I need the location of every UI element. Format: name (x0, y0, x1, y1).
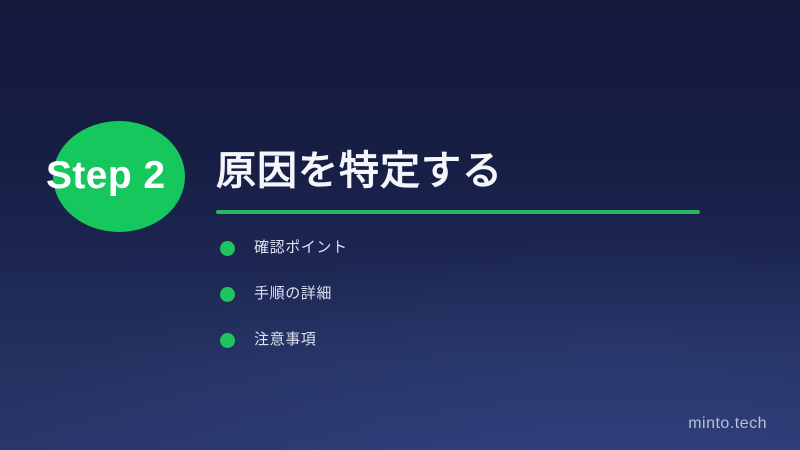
bullet-item-label: 確認ポイント (254, 236, 348, 260)
list-item: 手順の詳細 (216, 282, 696, 328)
bullet-dot-icon (220, 241, 235, 256)
bullet-list: 確認ポイント 手順の詳細 注意事項 (216, 236, 696, 374)
list-item: 注意事項 (216, 328, 696, 374)
title-underline-rule (216, 210, 700, 214)
slide-canvas: Step 2 原因を特定する 確認ポイント 手順の詳細 注意事項 minto.t… (0, 0, 800, 450)
bullet-item-label: 注意事項 (254, 328, 316, 352)
list-item: 確認ポイント (216, 236, 696, 282)
slide-title: 原因を特定する (216, 146, 503, 196)
slide-content: Step 2 原因を特定する 確認ポイント 手順の詳細 注意事項 minto.t… (0, 0, 800, 450)
bullet-dot-icon (220, 287, 235, 302)
bullet-dot-icon (220, 333, 235, 348)
footer-brand-text: minto.tech (688, 415, 767, 433)
bullet-item-label: 手順の詳細 (254, 282, 332, 306)
